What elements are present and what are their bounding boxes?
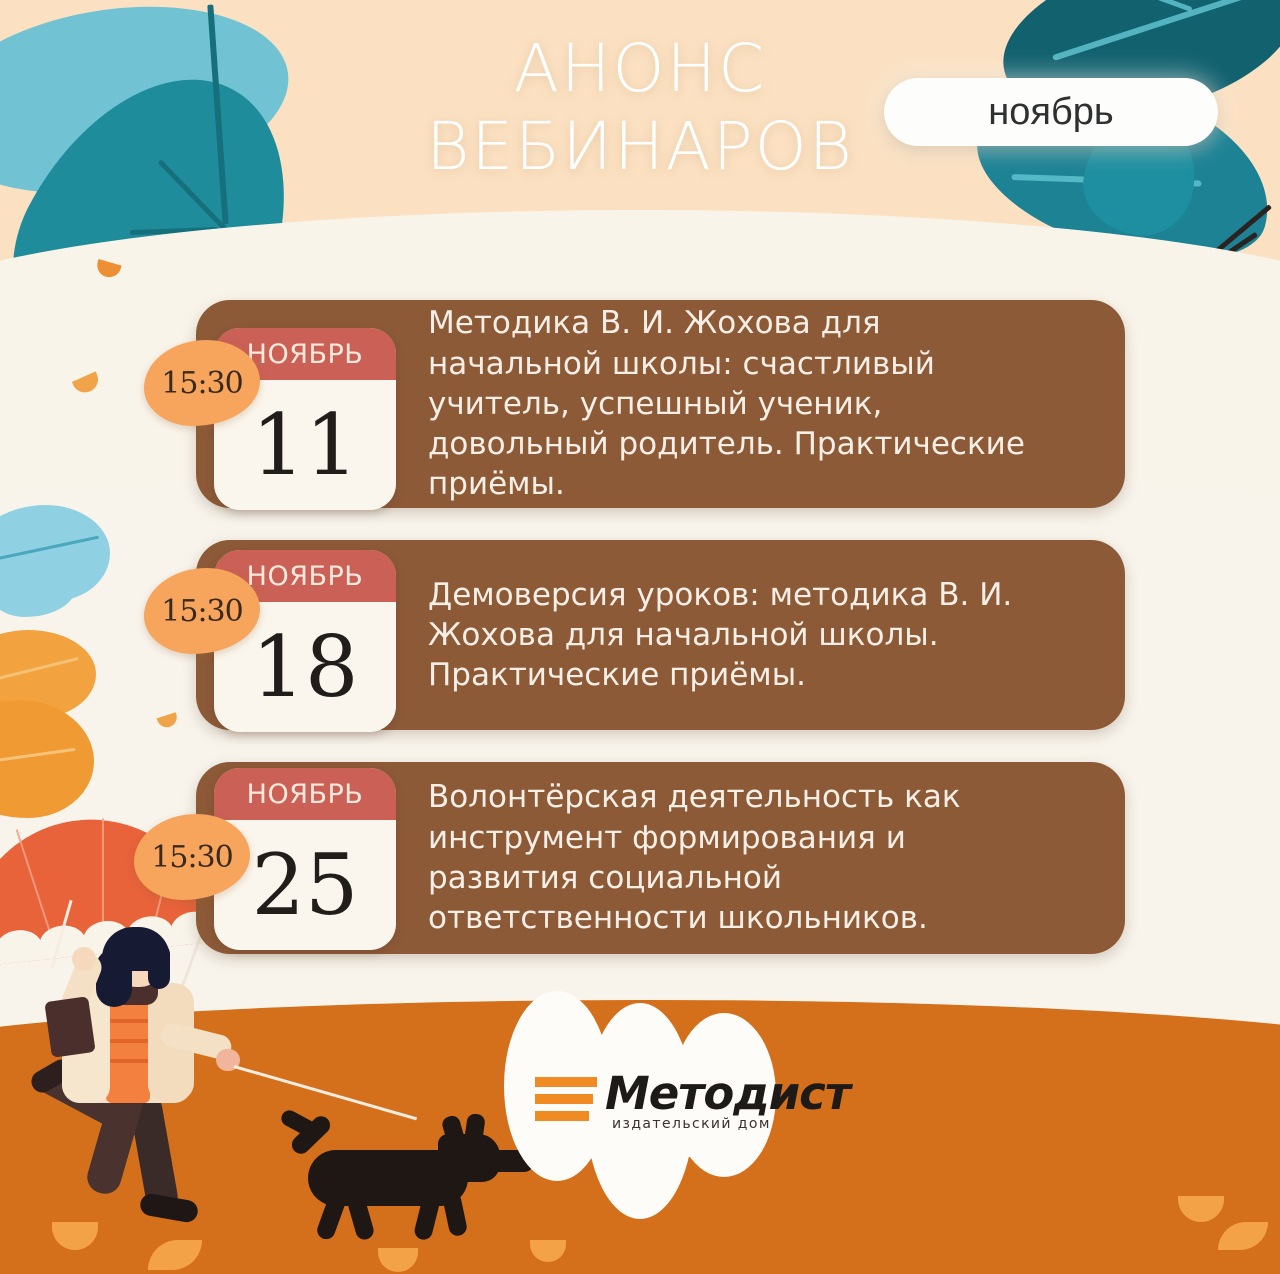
time-badge-label: 15:30 <box>151 840 232 875</box>
calendar-month-label: НОЯБРЬ <box>214 768 396 820</box>
webinar-row[interactable]: НОЯБРЬ 18 15:30 Демоверсия уроков: метод… <box>196 540 1125 730</box>
webinar-row[interactable]: НОЯБРЬ 11 15:30 Методика В. И. Жохова дл… <box>196 300 1125 508</box>
webinar-description: Методика В. И. Жохова для начальной школ… <box>428 300 1097 508</box>
logo-mark-icon <box>535 1077 597 1123</box>
webinar-description: Волонтёрская деятельность как инструмент… <box>428 762 1097 954</box>
poster-canvas: АНОНС ВЕБИНАРОВ ноябрь НОЯБРЬ 11 15:30 М… <box>0 0 1280 1274</box>
time-badge-label: 15:30 <box>161 594 242 629</box>
time-badge-label: 15:30 <box>161 366 242 401</box>
webinar-row[interactable]: НОЯБРЬ 25 15:30 Волонтёрская деятельност… <box>196 762 1125 954</box>
webinar-description: Демоверсия уроков: методика В. И. Жохова… <box>428 540 1097 730</box>
logo-name: Методист <box>605 1067 850 1120</box>
brand-logo: Методист издательский дом <box>500 985 800 1220</box>
logo-subtitle: издательский дом <box>612 1116 771 1132</box>
